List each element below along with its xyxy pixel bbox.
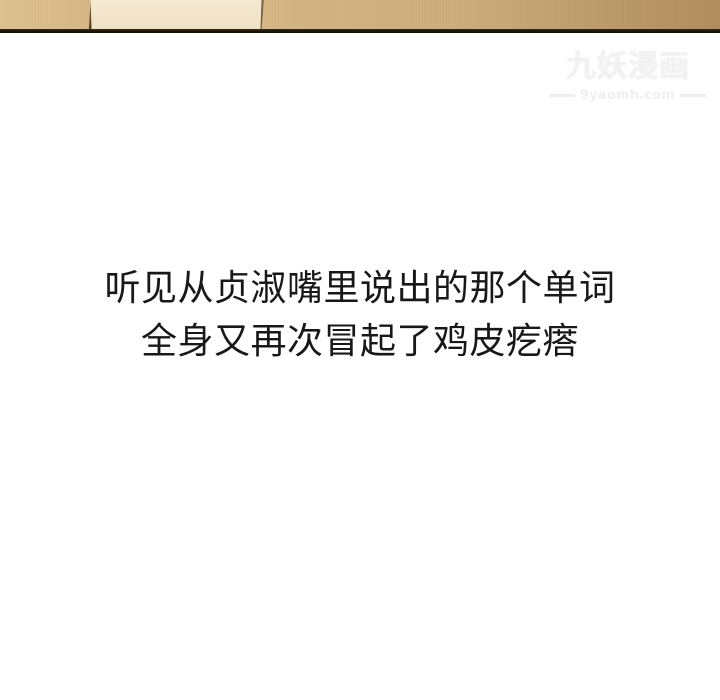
cabinet-light-panel [88,0,264,31]
comic-panel: 九妖漫画 9yaomh.com 听见从贞淑嘴里说出的那个单词 全身又再次冒起了鸡… [0,0,720,700]
watermark-right-dash-icon [680,94,706,97]
watermark-domain: 9yaomh.com [580,88,675,103]
watermark-domain-row: 9yaomh.com [545,88,710,103]
watermark-left-dash-icon [549,94,575,97]
site-watermark: 九妖漫画 9yaomh.com [545,50,710,103]
narration-line-1: 听见从贞淑嘴里说出的那个单词 [0,262,720,315]
narration-block: 听见从贞淑嘴里说出的那个单词 全身又再次冒起了鸡皮疙瘩 [0,262,720,368]
baseboard-edge [0,29,720,33]
narration-line-2: 全身又再次冒起了鸡皮疙瘩 [0,315,720,368]
watermark-title: 九妖漫画 [545,50,710,84]
scene-strip [0,0,720,33]
